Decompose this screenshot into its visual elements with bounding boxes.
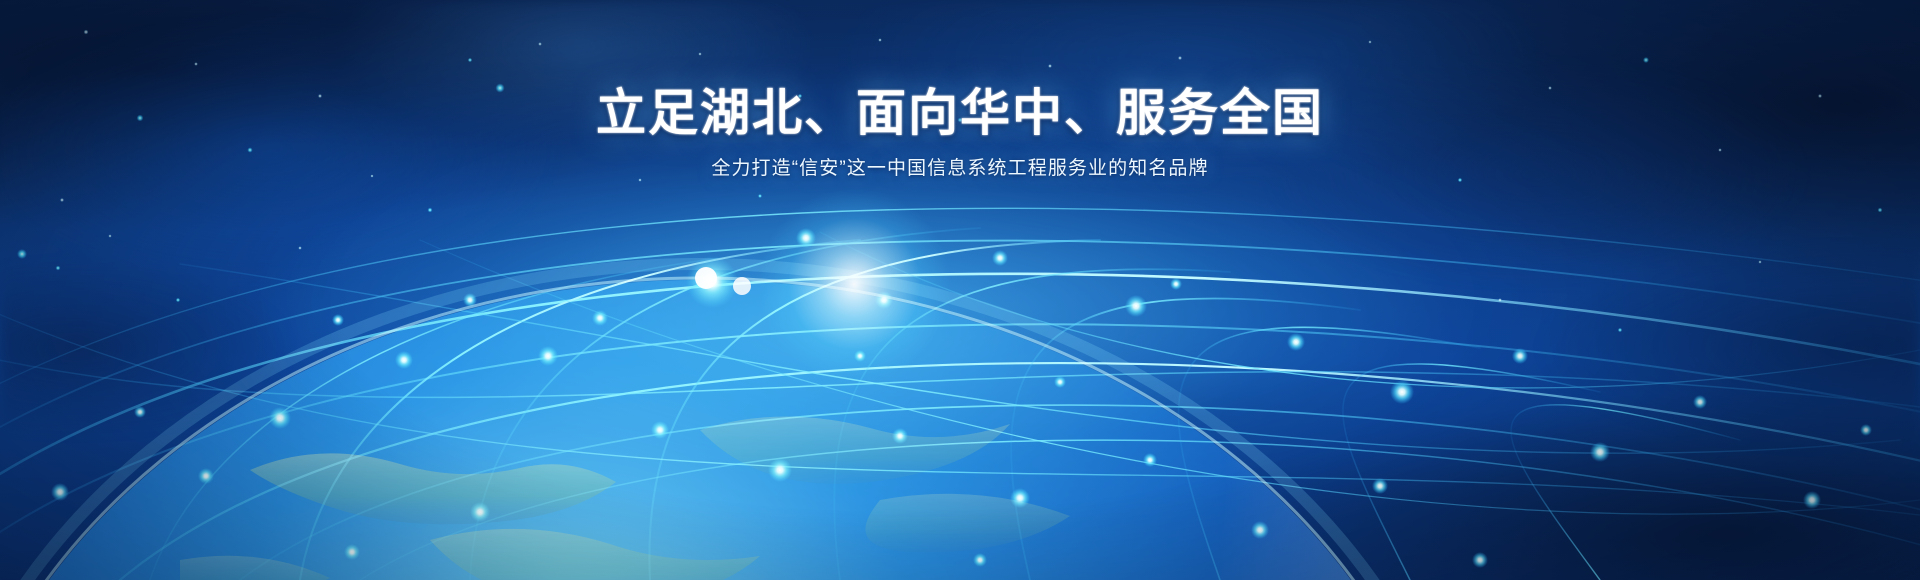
- page-subtitle: 全力打造“信安”这一中国信息系统工程服务业的知名品牌: [0, 156, 1920, 183]
- hero-copy: 立足湖北、面向华中、服务全国 全力打造“信安”这一中国信息系统工程服务业的知名品…: [0, 86, 1920, 183]
- page-title: 立足湖北、面向华中、服务全国: [0, 86, 1920, 140]
- hero-banner: 立足湖北、面向华中、服务全国 全力打造“信安”这一中国信息系统工程服务业的知名品…: [0, 0, 1920, 580]
